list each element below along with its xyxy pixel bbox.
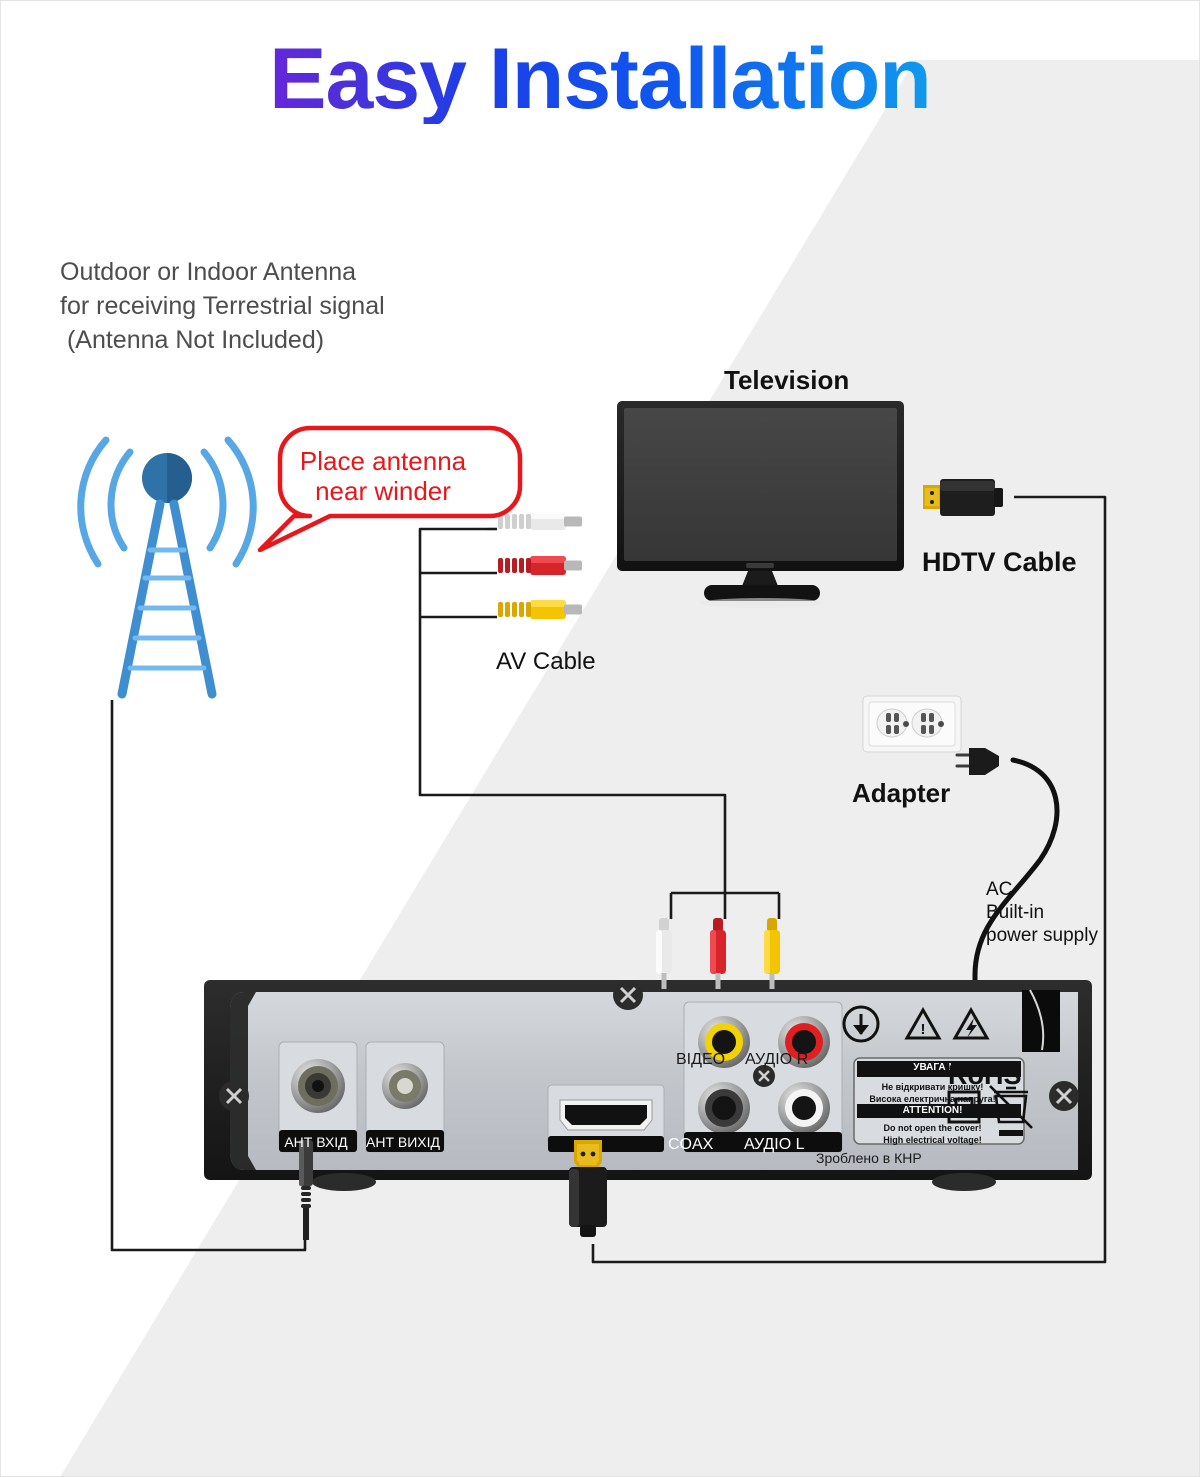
ac-label-line-3: power supply [986,924,1098,947]
ant-in-label: АНТ ВХІД [277,1134,355,1150]
svg-text:!: ! [921,1021,926,1038]
warning-en-line-1: Do not open the cover! [850,1122,1015,1134]
ac-label-line-2: Built-in [986,901,1044,924]
television-illustration [616,400,916,615]
coax-label: COAX [668,1136,713,1154]
warning-header-en: ATTENTION! [850,1105,1015,1116]
installation-diagram-page: Easy Installation Outdoor or Indoor Ante… [0,0,1200,1477]
connection-wires [0,0,1200,1477]
ac-power-plug-icon [955,742,1015,782]
callout-line-1: Place antenna [252,446,514,477]
audio-r-label: АУДІО R [745,1051,808,1069]
intro-line-3: (Antenna Not Included) [60,324,324,357]
av-cable-label: AV Cable [496,648,596,676]
wall-outlet-icon [862,695,962,753]
rca-plugs-into-receiver [648,900,798,990]
rohs-label: RoHS [948,1060,1022,1091]
warning-en-line-2: High electrical voltage! [850,1134,1015,1146]
intro-line-1: Outdoor or Indoor Antenna [60,256,356,289]
hdtv-cable-label: HDTV Cable [922,547,1077,578]
page-title: Easy Installation [0,34,1200,124]
adapter-label: Adapter [852,778,950,809]
warning-ua-line-2: Висока електрична напруга! [850,1093,1015,1105]
audio-l-label: АУДІО L [744,1136,804,1154]
ant-out-label: АНТ ВИХІД [364,1134,442,1150]
hdtv-cable-connector [921,476,1016,518]
video-label: ВІДЕО [676,1051,725,1069]
ac-label-line-1: AC [986,878,1012,901]
made-in-label: Зроблено в КНР [816,1150,922,1166]
callout-bubble: Place antenna near winder [252,424,532,552]
callout-line-2: near winder [252,476,514,507]
coax-plug-into-antenna-in [290,1140,322,1240]
television-label: Television [724,365,849,396]
intro-line-2: for receiving Terrestrial signal [60,290,385,323]
hdmi-plug-into-receiver [565,1140,611,1250]
